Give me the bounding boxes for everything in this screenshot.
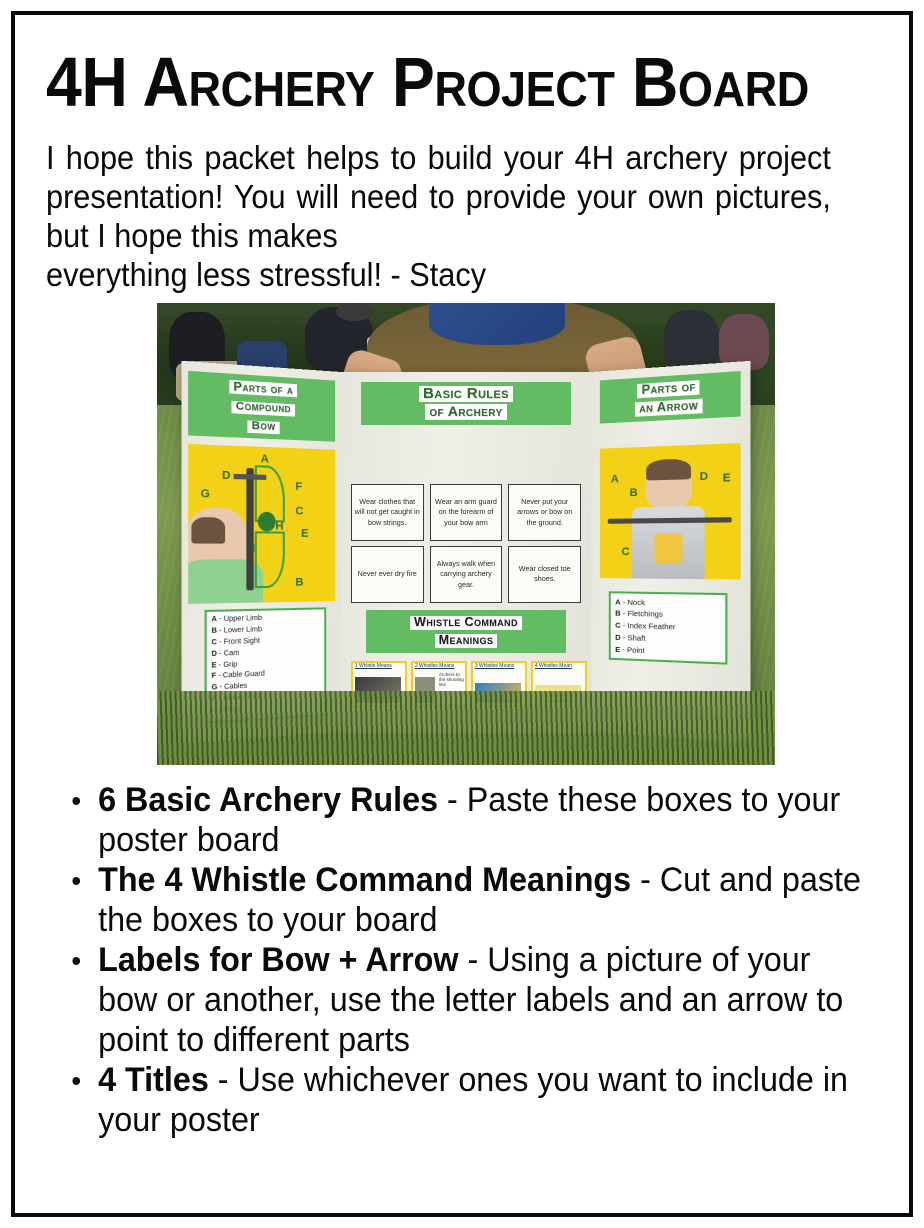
page-title: 4H Archery Project Board (46, 46, 819, 118)
bow-letter-I: I (252, 544, 255, 555)
list-item: 6 Basic Archery Rules - Paste these boxe… (62, 780, 862, 860)
intro-signature: everything less stressful! - Stacy (46, 255, 831, 294)
bow-cam-upper (258, 512, 276, 531)
arrow-archer-hair (646, 458, 691, 481)
whistle-card-title: 3 Whistles Means (473, 663, 525, 671)
right-header-line-2: an Arrow (635, 399, 702, 417)
bow-letter-A: A (261, 455, 269, 467)
whistle-header-line-1: Whistle Command (410, 616, 522, 630)
bow-sight-bar (234, 474, 267, 480)
whistle-card-title: 1 Whistle Means (353, 663, 405, 671)
whistle-command-header: Whistle Command Meanings (366, 610, 566, 653)
left-header-line-3: Bow (247, 421, 279, 435)
bow-letter-G: G (200, 489, 209, 501)
bow-riser (246, 468, 253, 590)
middle-panel-header: Basic Rules of Archery (361, 382, 571, 425)
list-item-lead: Labels for Bow + Arrow (98, 941, 458, 979)
right-panel-header: Parts of an Arrow (600, 372, 740, 424)
left-bow-image: D A G F C H E I B (188, 444, 335, 604)
rule-box: Wear clothes that will not get caught in… (351, 484, 424, 541)
right-header-line-1: Parts of (638, 380, 701, 398)
arrow-archer-graphic (654, 534, 682, 564)
foreground-grass (157, 691, 775, 765)
arrow-letter-A: A (611, 474, 619, 485)
bow-letter-C: C (295, 507, 303, 518)
page-content: 4H Archery Project Board I hope this pac… (0, 0, 924, 1228)
rule-box: Never ever dry fire (351, 546, 424, 603)
list-item-lead: 4 Titles (98, 1061, 209, 1099)
project-board-photo: Parts of a Compound Bow (157, 303, 775, 765)
whistle-card-title: 4 Whistles Mean (533, 663, 585, 671)
bow-letter-E: E (301, 528, 308, 539)
rule-box: Wear an arm guard on the forearm of your… (430, 484, 503, 541)
middle-header-line-2: of Archery (425, 404, 506, 419)
right-arrow-image: A B C D E (600, 443, 740, 580)
list-item-rest: - Use whichever ones you want to include… (98, 1061, 848, 1139)
list-item-lead: The 4 Whistle Command Meanings (98, 861, 631, 899)
whistle-header-line-2: Meanings (435, 634, 498, 648)
bow-archer-hair (191, 518, 225, 544)
arrow-letter-D: D (700, 471, 709, 483)
arrow-letter-E: E (723, 473, 731, 485)
bow-letter-D: D (222, 471, 231, 483)
arrow-parts-legend: A - Nock B - Fletchings C - Index Feathe… (609, 591, 727, 665)
rule-box: Always walk when carrying archery gear. (430, 546, 503, 603)
person-bandana (429, 303, 565, 345)
bow-letter-H: H (275, 522, 283, 533)
intro-paragraph: I hope this packet helps to build your 4… (46, 138, 831, 294)
intro-text: I hope this packet helps to build your 4… (46, 139, 831, 254)
page: 4H Archery Project Board I hope this pac… (0, 0, 924, 1228)
list-item: The 4 Whistle Command Meanings - Cut and… (62, 860, 862, 940)
rule-box: Wear closed toe shoes. (508, 546, 581, 603)
whistle-card-title: 2 Whistles Means (413, 663, 465, 671)
left-header-line-2: Compound (231, 401, 294, 417)
bow-letter-F: F (295, 482, 302, 493)
board-panel-right: Parts of an Arrow A B C D E (591, 361, 750, 744)
list-item: Labels for Bow + Arrow - Using a picture… (62, 940, 862, 1060)
board-panel-left: Parts of a Compound Bow (181, 361, 340, 744)
whistle-card-body: Archers to the shooting line (437, 672, 467, 688)
list-item: 4 Titles - Use whichever ones you want t… (62, 1060, 862, 1140)
bow-letter-B: B (295, 578, 303, 589)
instructions-list: 6 Basic Archery Rules - Paste these boxe… (62, 780, 904, 1140)
left-header-line-1: Parts of a (229, 380, 297, 398)
archery-rules-grid: Wear clothes that will not get caught in… (351, 484, 581, 603)
arrow-letter-C: C (622, 547, 630, 558)
rule-box: Never put your arrows or bow on the grou… (508, 484, 581, 541)
arrow-bow-bar (608, 517, 731, 524)
bow-lower-limb (255, 531, 285, 588)
list-item-lead: 6 Basic Archery Rules (98, 781, 438, 819)
left-panel-header: Parts of a Compound Bow (188, 371, 335, 442)
tri-fold-board: Parts of a Compound Bow (188, 372, 744, 732)
arrow-letter-B: B (630, 488, 638, 499)
arrow-legend-item: E - Point (615, 644, 720, 660)
middle-header-line-1: Basic Rules (419, 386, 513, 402)
board-panel-middle: Basic Rules of Archery Wear clothes that… (341, 372, 591, 732)
